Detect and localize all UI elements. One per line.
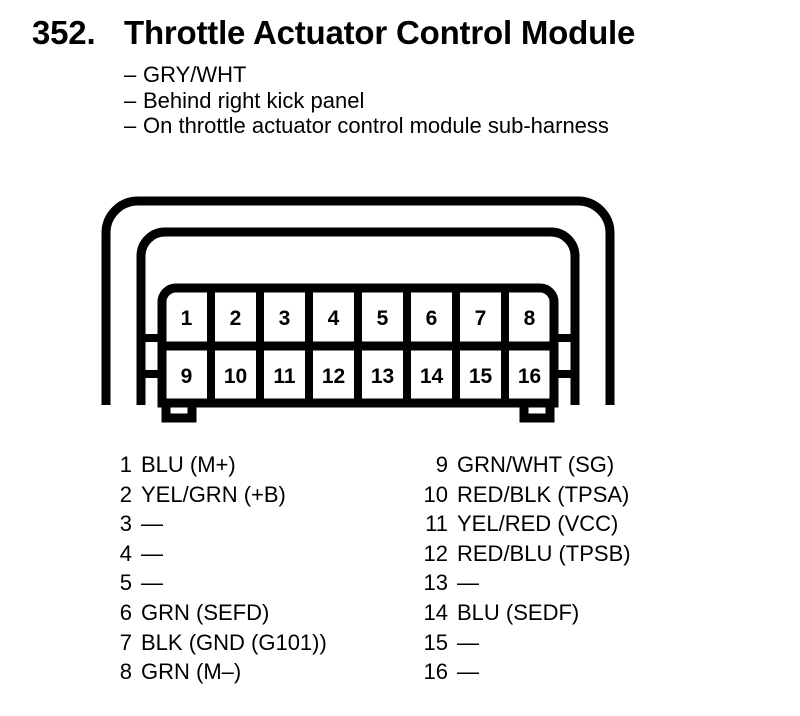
- pin-list-item: 9 GRN/WHT (SG): [420, 452, 631, 482]
- bullet-label: On throttle actuator control module sub-…: [143, 113, 609, 139]
- page-title-number: 352.: [32, 14, 124, 52]
- pin-cell-number: 11: [273, 365, 296, 388]
- connector-svg: 1 2 3 4 5 6 7 8 9 10 11 12 13 14 15 16: [95, 190, 625, 430]
- pin-list-item-number: 10: [420, 482, 457, 508]
- pin-list-item-label: —: [141, 511, 163, 537]
- bullet-label: Behind right kick panel: [143, 88, 364, 114]
- header-bullet-list: – GRY/WHT – Behind right kick panel – On…: [124, 62, 784, 139]
- pin-cell-number: 12: [322, 365, 345, 388]
- pin-list-item-label: BLU (M+): [141, 452, 236, 478]
- pin-cell-number: 13: [371, 365, 394, 388]
- pin-list-item: 5 —: [104, 570, 327, 600]
- pin-list-item-label: YEL/GRN (+B): [141, 482, 286, 508]
- pin-list-item: 2 YEL/GRN (+B): [104, 482, 327, 512]
- bullet-item: – On throttle actuator control module su…: [124, 113, 784, 139]
- pin-list-item: 13 —: [420, 570, 631, 600]
- pin-cell-number: 8: [524, 307, 536, 330]
- pin-list-item-number: 11: [420, 511, 457, 537]
- pin-list-item-number: 2: [104, 482, 141, 508]
- pin-list-item-number: 9: [420, 452, 457, 478]
- pin-list-item-label: YEL/RED (VCC): [457, 511, 618, 537]
- pin-list-item-number: 13: [420, 570, 457, 596]
- pin-list-item-number: 1: [104, 452, 141, 478]
- pin-cell-number: 6: [426, 307, 438, 330]
- connector-diagram: 1 2 3 4 5 6 7 8 9 10 11 12 13 14 15 16: [95, 190, 625, 430]
- pin-list-right-column: 9 GRN/WHT (SG) 10 RED/BLK (TPSA) 11 YEL/…: [420, 452, 631, 689]
- pin-list-item: 1 BLU (M+): [104, 452, 327, 482]
- pin-cell-number: 15: [469, 365, 493, 388]
- pin-cell-number: 14: [420, 365, 444, 388]
- pin-list-item-number: 15: [420, 630, 457, 656]
- pin-list-item-label: BLU (SEDF): [457, 600, 579, 626]
- pin-list-item: 11 YEL/RED (VCC): [420, 511, 631, 541]
- pin-list-item: 6 GRN (SEFD): [104, 600, 327, 630]
- pin-cell-number: 1: [181, 307, 193, 330]
- pin-list-item-number: 5: [104, 570, 141, 596]
- pin-list-item-label: RED/BLK (TPSA): [457, 482, 629, 508]
- pin-cell-number: 16: [518, 365, 541, 388]
- page-title: 352.Throttle Actuator Control Module: [32, 14, 635, 52]
- dash-icon: –: [124, 113, 143, 139]
- pin-list-item-label: —: [457, 630, 479, 656]
- pin-list-item: 3 —: [104, 511, 327, 541]
- pin-list-item-number: 7: [104, 630, 141, 656]
- pin-cell-number: 4: [328, 307, 340, 330]
- pin-list-item-number: 16: [420, 659, 457, 685]
- pin-list-item-label: —: [457, 659, 479, 685]
- pin-cell-number: 5: [377, 307, 389, 330]
- pin-list-item: 15 —: [420, 630, 631, 660]
- pin-list-item: 12 RED/BLU (TPSB): [420, 541, 631, 571]
- pin-cell-number: 9: [181, 365, 193, 388]
- bullet-label: GRY/WHT: [143, 62, 246, 88]
- pin-list-item-label: BLK (GND (G101)): [141, 630, 327, 656]
- pin-assignment-list: 1 BLU (M+) 2 YEL/GRN (+B) 3 — 4 — 5 — 6 …: [0, 452, 800, 702]
- bullet-item: – Behind right kick panel: [124, 88, 784, 114]
- pin-list-left-column: 1 BLU (M+) 2 YEL/GRN (+B) 3 — 4 — 5 — 6 …: [104, 452, 327, 689]
- pin-list-item: 4 —: [104, 541, 327, 571]
- pin-list-item: 10 RED/BLK (TPSA): [420, 482, 631, 512]
- pin-cell-number: 2: [230, 307, 242, 330]
- pin-list-item-label: GRN (M–): [141, 659, 241, 685]
- pin-list-item-number: 6: [104, 600, 141, 626]
- pin-list-item-number: 4: [104, 541, 141, 567]
- pin-list-item: 7 BLK (GND (G101)): [104, 630, 327, 660]
- page-title-text: Throttle Actuator Control Module: [124, 14, 635, 52]
- pin-cell-number: 3: [279, 307, 291, 330]
- pin-list-item-number: 3: [104, 511, 141, 537]
- pin-cell-number: 10: [224, 365, 247, 388]
- pin-list-item-label: —: [457, 570, 479, 596]
- pin-list-item: 14 BLU (SEDF): [420, 600, 631, 630]
- pin-list-item-label: GRN/WHT (SG): [457, 452, 614, 478]
- pin-cell-number: 7: [475, 307, 487, 330]
- pin-list-item-label: —: [141, 541, 163, 567]
- dash-icon: –: [124, 88, 143, 114]
- bullet-item: – GRY/WHT: [124, 62, 784, 88]
- pin-list-item-label: GRN (SEFD): [141, 600, 269, 626]
- dash-icon: –: [124, 62, 143, 88]
- pin-list-item-number: 8: [104, 659, 141, 685]
- pin-list-item: 16 —: [420, 659, 631, 689]
- pin-list-item-number: 12: [420, 541, 457, 567]
- pin-list-item-label: —: [141, 570, 163, 596]
- pin-list-item-number: 14: [420, 600, 457, 626]
- pin-list-item: 8 GRN (M–): [104, 659, 327, 689]
- pin-list-item-label: RED/BLU (TPSB): [457, 541, 631, 567]
